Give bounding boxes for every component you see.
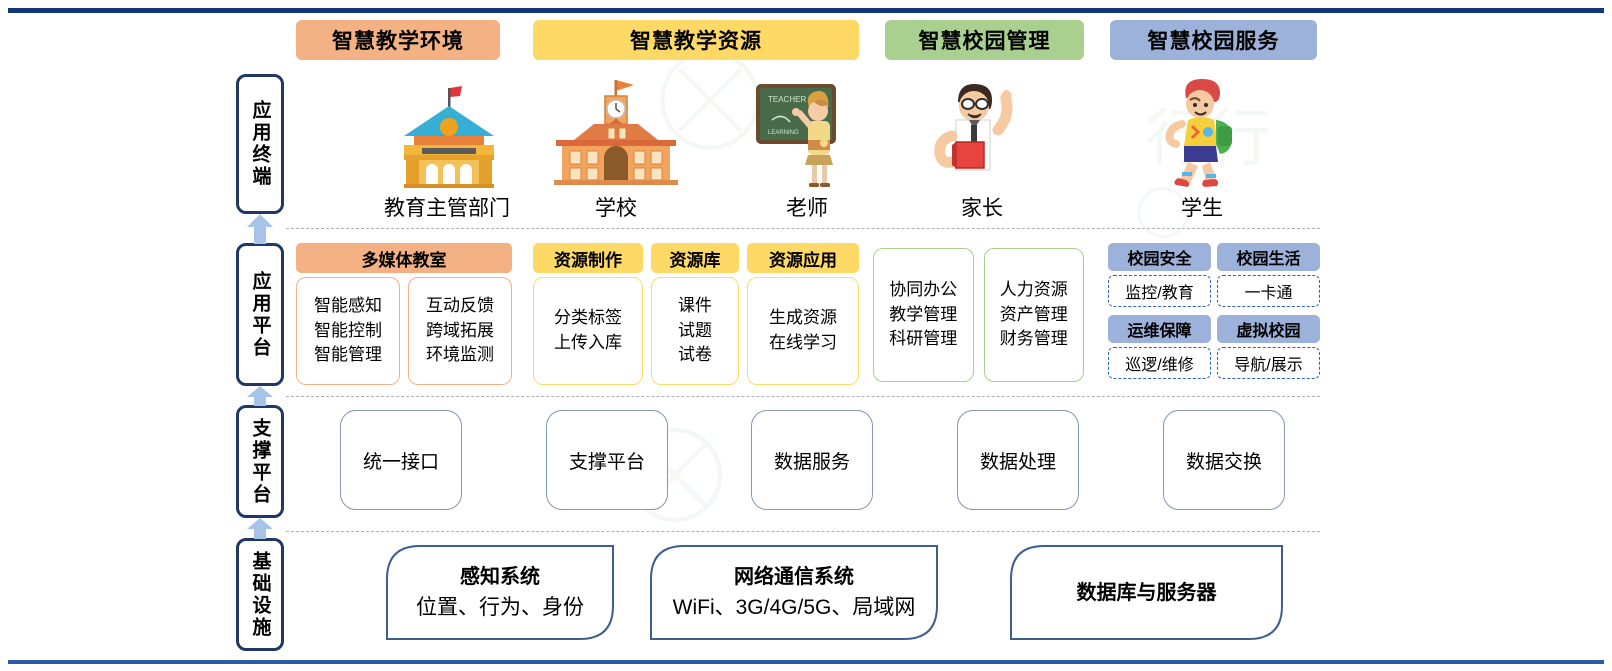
terminal-caption: 老师 bbox=[727, 192, 887, 222]
student-backpack-icon bbox=[1122, 78, 1282, 188]
service-cell-campus-safety[interactable]: 校园安全 监控/教育 bbox=[1108, 243, 1211, 307]
infrastructure-text: 网络通信系统 WiFi、3G/4G/5G、局域网 bbox=[673, 562, 916, 624]
layer-divider bbox=[286, 396, 1320, 397]
service-value: 一卡通 bbox=[1244, 279, 1292, 303]
support-box-label: 数据交换 bbox=[1186, 447, 1262, 474]
category-pill-campus-service[interactable]: 智慧校园服务 bbox=[1110, 20, 1317, 60]
support-box-label: 数据服务 bbox=[774, 447, 850, 474]
layer-label-text: 应用终端 bbox=[251, 100, 270, 188]
layer-label-text: 基础设施 bbox=[251, 551, 270, 639]
infrastructure-box-sensing-system[interactable]: 感知系统 位置、行为、身份 bbox=[386, 545, 614, 640]
service-header: 运维保障 bbox=[1108, 315, 1211, 343]
layer-label-application-terminal[interactable]: 应用终端 bbox=[236, 74, 284, 214]
support-box-data-exchange[interactable]: 数据交换 bbox=[1163, 410, 1285, 510]
subbox-item: 智能控制 bbox=[314, 319, 382, 344]
support-box-support-platform[interactable]: 支撑平台 bbox=[546, 410, 668, 510]
bottom-rule bbox=[8, 660, 1604, 664]
service-value-box[interactable]: 一卡通 bbox=[1217, 275, 1320, 307]
support-box-data-processing[interactable]: 数据处理 bbox=[957, 410, 1079, 510]
infrastructure-sub: 位置、行为、身份 bbox=[416, 592, 584, 624]
subbox-item: 在线学习 bbox=[769, 331, 837, 356]
service-value-box[interactable]: 导航/展示 bbox=[1217, 347, 1320, 379]
subbox-item: 试题 bbox=[678, 319, 712, 344]
top-rule bbox=[8, 8, 1604, 13]
svg-text:TEACHER: TEACHER bbox=[768, 95, 806, 104]
category-pill-teaching-environment[interactable]: 智慧教学环境 bbox=[296, 20, 500, 60]
terminal-item-school[interactable]: 学校 bbox=[536, 78, 696, 222]
platform-group-campus-services[interactable]: 校园安全 监控/教育 校园生活 一卡通 运维保障 巡逻/维修 虚拟校园 bbox=[1108, 243, 1320, 379]
service-header: 校园生活 bbox=[1217, 243, 1320, 271]
svg-text:LEARNING: LEARNING bbox=[768, 130, 799, 136]
service-cell-operation-maintenance[interactable]: 运维保障 巡逻/维修 bbox=[1108, 315, 1211, 379]
layer-label-text: 支撑平台 bbox=[251, 418, 270, 506]
subbox-item: 生成资源 bbox=[769, 306, 837, 331]
subbox-item: 协同办公 bbox=[889, 278, 957, 303]
group-subbox[interactable]: 课件 试题 试卷 bbox=[651, 277, 739, 385]
infrastructure-title: 数据库与服务器 bbox=[1077, 578, 1217, 608]
terminal-caption: 教育主管部门 bbox=[367, 192, 527, 222]
service-cell-virtual-campus[interactable]: 虚拟校园 导航/展示 bbox=[1217, 315, 1320, 379]
service-header: 虚拟校园 bbox=[1217, 315, 1320, 343]
group-body: 协同办公 教学管理 科研管理 人力资源 资产管理 财务管理 bbox=[873, 248, 1084, 382]
group-subbox[interactable]: 分类标签 上传入库 bbox=[533, 277, 643, 385]
subbox-item: 教学管理 bbox=[889, 303, 957, 328]
support-box-label: 统一接口 bbox=[363, 447, 439, 474]
group-subbox[interactable]: 互动反馈 跨域拓展 环境监测 bbox=[408, 277, 512, 385]
support-box-data-service[interactable]: 数据服务 bbox=[751, 410, 873, 510]
layer-label-application-platform[interactable]: 应用平台 bbox=[236, 243, 284, 386]
service-value: 导航/展示 bbox=[1234, 351, 1302, 375]
infrastructure-title: 感知系统 bbox=[416, 562, 584, 592]
subbox-item: 资产管理 bbox=[1000, 303, 1068, 328]
group-header-text: 资源制作 bbox=[554, 246, 622, 271]
service-value-box[interactable]: 巡逻/维修 bbox=[1108, 347, 1211, 379]
group-header: 资源应用 bbox=[747, 243, 859, 273]
subbox-item: 课件 bbox=[678, 294, 712, 319]
group-body: 课件 试题 试卷 bbox=[651, 277, 739, 385]
group-subbox[interactable]: 协同办公 教学管理 科研管理 bbox=[873, 248, 974, 382]
teacher-blackboard-icon: TEACHER LEARNING bbox=[727, 78, 887, 188]
subbox-item: 智能感知 bbox=[314, 294, 382, 319]
layer-label-text: 应用平台 bbox=[251, 271, 270, 359]
category-label: 智慧校园管理 bbox=[919, 25, 1051, 55]
service-header-text: 校园安全 bbox=[1127, 245, 1191, 269]
group-subbox[interactable]: 智能感知 智能控制 智能管理 bbox=[296, 277, 400, 385]
terminal-item-teacher[interactable]: TEACHER LEARNING 老师 bbox=[727, 78, 887, 222]
support-box-label: 数据处理 bbox=[980, 447, 1056, 474]
infrastructure-text: 感知系统 位置、行为、身份 bbox=[416, 562, 584, 624]
category-pill-teaching-resource[interactable]: 智慧教学资源 bbox=[533, 20, 859, 60]
layer-divider bbox=[286, 228, 1320, 229]
group-header-text: 资源应用 bbox=[769, 246, 837, 271]
platform-group-campus-management[interactable]: 协同办公 教学管理 科研管理 人力资源 资产管理 财务管理 bbox=[873, 248, 1084, 382]
support-box-unified-interface[interactable]: 统一接口 bbox=[340, 410, 462, 510]
subbox-item: 互动反馈 bbox=[426, 294, 494, 319]
layer-label-infrastructure[interactable]: 基础设施 bbox=[236, 538, 284, 651]
category-header-row: 智慧教学环境 智慧教学资源 智慧校园管理 智慧校园服务 bbox=[0, 20, 1612, 62]
category-label: 智慧校园服务 bbox=[1148, 25, 1280, 55]
infrastructure-sub: WiFi、3G/4G/5G、局域网 bbox=[673, 592, 916, 624]
group-subbox[interactable]: 生成资源 在线学习 bbox=[747, 277, 859, 385]
terminal-item-student[interactable]: 学生 bbox=[1122, 78, 1282, 222]
government-building-icon bbox=[367, 78, 527, 188]
service-header-text: 运维保障 bbox=[1127, 317, 1191, 341]
infrastructure-box-database-and-server[interactable]: 数据库与服务器 bbox=[1010, 545, 1283, 640]
platform-group-resource-production[interactable]: 资源制作 分类标签 上传入库 bbox=[533, 243, 643, 385]
infrastructure-title: 网络通信系统 bbox=[673, 562, 916, 592]
layer-label-support-platform[interactable]: 支撑平台 bbox=[236, 405, 284, 518]
terminal-caption: 学生 bbox=[1122, 192, 1282, 222]
subbox-item: 上传入库 bbox=[554, 331, 622, 356]
category-label: 智慧教学资源 bbox=[630, 25, 762, 55]
terminal-item-parent[interactable]: 家长 bbox=[902, 78, 1062, 222]
platform-group-resource-application[interactable]: 资源应用 生成资源 在线学习 bbox=[747, 243, 859, 385]
group-body: 分类标签 上传入库 bbox=[533, 277, 643, 385]
support-box-label: 支撑平台 bbox=[569, 447, 645, 474]
service-cell-campus-life[interactable]: 校园生活 一卡通 bbox=[1217, 243, 1320, 307]
subbox-item: 科研管理 bbox=[889, 327, 957, 352]
up-arrow-icon bbox=[247, 386, 273, 406]
terminal-caption: 学校 bbox=[536, 192, 696, 222]
platform-group-resource-library[interactable]: 资源库 课件 试题 试卷 bbox=[651, 243, 739, 385]
layer-divider bbox=[286, 531, 1320, 532]
subbox-item: 智能管理 bbox=[314, 343, 382, 368]
subbox-item: 财务管理 bbox=[1000, 327, 1068, 352]
subbox-item: 分类标签 bbox=[554, 306, 622, 331]
infrastructure-text: 数据库与服务器 bbox=[1077, 578, 1217, 608]
subbox-item: 试卷 bbox=[678, 343, 712, 368]
service-value: 巡逻/维修 bbox=[1125, 351, 1193, 375]
parent-waving-icon bbox=[902, 78, 1062, 188]
category-pill-campus-management[interactable]: 智慧校园管理 bbox=[885, 20, 1084, 60]
service-value-box[interactable]: 监控/教育 bbox=[1108, 275, 1211, 307]
terminal-caption: 家长 bbox=[902, 192, 1062, 222]
service-header-text: 虚拟校园 bbox=[1236, 317, 1300, 341]
school-building-icon bbox=[536, 78, 696, 188]
group-header: 多媒体教室 bbox=[296, 243, 512, 273]
group-header-text: 多媒体教室 bbox=[362, 246, 447, 271]
service-value: 监控/教育 bbox=[1125, 279, 1193, 303]
group-subbox[interactable]: 人力资源 资产管理 财务管理 bbox=[984, 248, 1085, 382]
services-grid: 校园安全 监控/教育 校园生活 一卡通 运维保障 巡逻/维修 虚拟校园 bbox=[1108, 243, 1320, 379]
group-header: 资源库 bbox=[651, 243, 739, 273]
service-header: 校园安全 bbox=[1108, 243, 1211, 271]
up-arrow-icon bbox=[247, 518, 273, 539]
subbox-item: 人力资源 bbox=[1000, 278, 1068, 303]
group-header: 资源制作 bbox=[533, 243, 643, 273]
subbox-item: 跨域拓展 bbox=[426, 319, 494, 344]
service-header-text: 校园生活 bbox=[1236, 245, 1300, 269]
subbox-item: 环境监测 bbox=[426, 343, 494, 368]
infrastructure-box-network-communication-system[interactable]: 网络通信系统 WiFi、3G/4G/5G、局域网 bbox=[650, 545, 938, 640]
platform-group-multimedia-classroom[interactable]: 多媒体教室 智能感知 智能控制 智能管理 互动反馈 跨域拓展 环境监测 bbox=[296, 243, 512, 385]
group-body: 智能感知 智能控制 智能管理 互动反馈 跨域拓展 环境监测 bbox=[296, 277, 512, 385]
category-label: 智慧教学环境 bbox=[332, 25, 464, 55]
group-body: 生成资源 在线学习 bbox=[747, 277, 859, 385]
up-arrow-icon bbox=[247, 214, 273, 244]
group-header-text: 资源库 bbox=[670, 246, 721, 271]
terminal-item-education-authority[interactable]: 教育主管部门 bbox=[367, 78, 527, 222]
